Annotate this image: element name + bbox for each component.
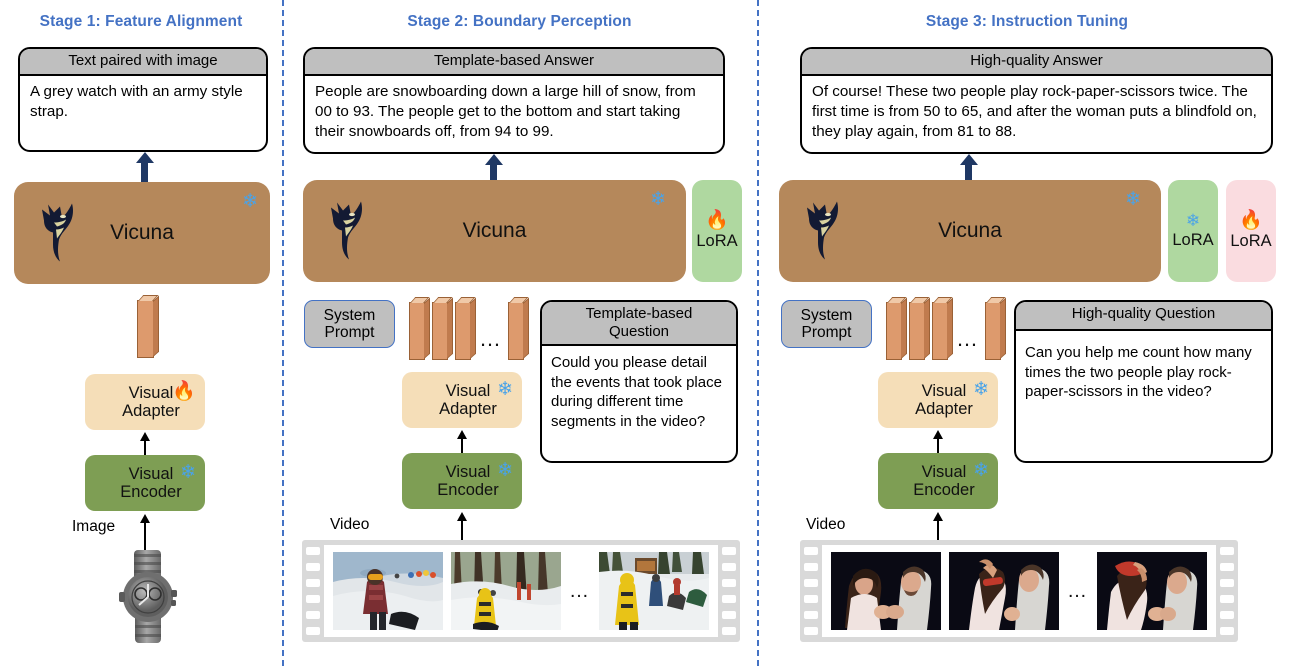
stage-1-answer-body: A grey watch with an army style strap.	[20, 76, 266, 128]
stage-2-token-ellipsis: …	[479, 328, 503, 350]
filmstrip-frames: …	[324, 545, 718, 637]
snowflake-icon: ❄	[1125, 190, 1141, 209]
stage-2-visual-adapter: Visual Adapter ❄	[402, 372, 522, 428]
stage-3-question-body: Can you help me count how many times the…	[1016, 331, 1271, 409]
stage-divider-1	[282, 0, 284, 666]
stage-3-visual-token-1	[886, 302, 902, 360]
stage-1-encoder-to-adapter-arrow	[144, 440, 146, 456]
stage-3-token-ellipsis: …	[956, 328, 980, 350]
snowflake-icon: ❄	[1186, 212, 1200, 229]
video-frame	[949, 552, 1059, 630]
stage-2-visual-token-1	[409, 302, 425, 360]
stage-2-system-prompt: System Prompt	[304, 300, 395, 348]
stage-1-visual-encoder: Visual Encoder ❄	[85, 455, 205, 511]
snowflake-icon: ❄	[497, 380, 513, 399]
fire-icon: 🔥	[1239, 211, 1263, 230]
stage-3-question-card: High-quality Question Can you help me co…	[1014, 300, 1273, 463]
stage-3-vicuna-block: Vicuna ❄	[779, 180, 1161, 282]
stage-3-answer-card: High-quality Answer Of course! These two…	[800, 47, 1273, 154]
stage-2-video-filmstrip: …	[302, 540, 740, 642]
stage-2-visual-encoder: Visual Encoder ❄	[402, 453, 522, 509]
stage-3-encoder-label: Visual Encoder	[901, 463, 974, 500]
stage-2-question-body: Could you please detail the events that …	[542, 346, 736, 438]
stage-3-system-prompt: System Prompt	[781, 300, 872, 348]
stage-2-encoder-to-adapter-arrow	[461, 438, 463, 454]
stage-3-title: Stage 3: Instruction Tuning	[757, 13, 1297, 31]
stage-3-system-prompt-text: System Prompt	[801, 307, 853, 342]
watch-photo	[110, 548, 186, 649]
stage-2-vicuna-label: Vicuna	[303, 219, 686, 243]
stage-3-vicuna-label: Vicuna	[779, 219, 1161, 243]
stage-3-visual-encoder: Visual Encoder ❄	[878, 453, 998, 509]
stage-2-encoder-label: Visual Encoder	[425, 463, 498, 500]
stage-2-lora-label: LoRA	[696, 232, 737, 251]
stage-3-lora-trainable: 🔥 LoRA	[1226, 180, 1276, 282]
snowflake-icon: ❄	[650, 190, 666, 209]
snowflake-icon: ❄	[497, 461, 513, 480]
video-frame	[1097, 552, 1207, 630]
stage-3-lora-frozen-label: LoRA	[1172, 231, 1213, 250]
video-frame	[599, 552, 709, 630]
fire-icon: 🔥	[172, 382, 196, 401]
stage-3-visual-adapter: Visual Adapter ❄	[878, 372, 998, 428]
stage-1-title: Stage 1: Feature Alignment	[0, 13, 282, 31]
stage-3-adapter-label: Visual Adapter	[903, 382, 973, 419]
stage-2-adapter-label: Visual Adapter	[427, 382, 497, 419]
stage-3-video-filmstrip: …	[800, 540, 1238, 642]
stage-3-input-label: Video	[806, 516, 845, 534]
stage-2-question-header: Template-based Question	[542, 302, 736, 346]
stage-2-question-card: Template-based Question Could you please…	[540, 300, 738, 463]
snowflake-icon: ❄	[973, 461, 989, 480]
stage-2-frames-ellipsis: …	[569, 581, 591, 601]
stage-1-answer-card: Text paired with image A grey watch with…	[18, 47, 268, 152]
stage-2-answer-card: Template-based Answer People are snowboa…	[303, 47, 725, 154]
video-frame	[451, 552, 561, 630]
stage-3-visual-token-3	[932, 302, 948, 360]
stage-2-input-label: Video	[330, 516, 369, 534]
stage-1-encoder-label: Visual Encoder	[108, 465, 181, 502]
stage-3-lora-frozen: ❄ LoRA	[1168, 180, 1218, 282]
stage-divider-2	[757, 0, 759, 666]
stage-1-answer-header: Text paired with image	[20, 49, 266, 76]
stage-3-visual-token-n	[985, 302, 1001, 360]
stage-2-visual-token-3	[455, 302, 471, 360]
snowflake-icon: ❄	[242, 192, 258, 211]
stage-2-visual-token-2	[432, 302, 448, 360]
stage-1-adapter-label: Visual Adapter	[110, 384, 180, 421]
stage-3-encoder-to-adapter-arrow	[937, 438, 939, 454]
video-frame	[333, 552, 443, 630]
stage-2-lora-trainable: 🔥 LoRA	[692, 180, 742, 282]
filmstrip-sprockets-left	[302, 540, 324, 642]
figure-canvas: Stage 1: Feature Alignment Text paired w…	[0, 0, 1297, 666]
stage-3-answer-header: High-quality Answer	[802, 49, 1271, 76]
fire-icon: 🔥	[705, 211, 729, 230]
stage-1-input-label: Image	[72, 518, 115, 536]
stage-3-lora-trainable-label: LoRA	[1230, 232, 1271, 251]
snowflake-icon: ❄	[973, 380, 989, 399]
stage-3-answer-body: Of course! These two people play rock-pa…	[802, 76, 1271, 147]
stage-1-visual-token	[137, 300, 154, 358]
stage-2-answer-header: Template-based Answer	[305, 49, 723, 76]
stage-2-vicuna-block: Vicuna ❄	[303, 180, 686, 282]
filmstrip-sprockets-left	[800, 540, 822, 642]
stage-1-answer-arrow	[141, 162, 148, 184]
stage-2-title: Stage 2: Boundary Perception	[282, 13, 757, 31]
video-frame	[831, 552, 941, 630]
stage-3-frames-ellipsis: …	[1067, 581, 1089, 601]
stage-1-vicuna-block: Vicuna ❄	[14, 182, 270, 284]
snowflake-icon: ❄	[180, 463, 196, 482]
stage-3-question-header: High-quality Question	[1016, 302, 1271, 331]
filmstrip-sprockets-right	[718, 540, 740, 642]
stage-3-visual-token-2	[909, 302, 925, 360]
stage-2-system-prompt-text: System Prompt	[324, 307, 376, 342]
filmstrip-sprockets-right	[1216, 540, 1238, 642]
filmstrip-frames: …	[822, 545, 1216, 637]
stage-2-visual-token-n	[508, 302, 524, 360]
stage-1-vicuna-label: Vicuna	[14, 221, 270, 245]
stage-1-visual-adapter: Visual Adapter 🔥	[85, 374, 205, 430]
stage-2-answer-body: People are snowboarding down a large hil…	[305, 76, 723, 147]
